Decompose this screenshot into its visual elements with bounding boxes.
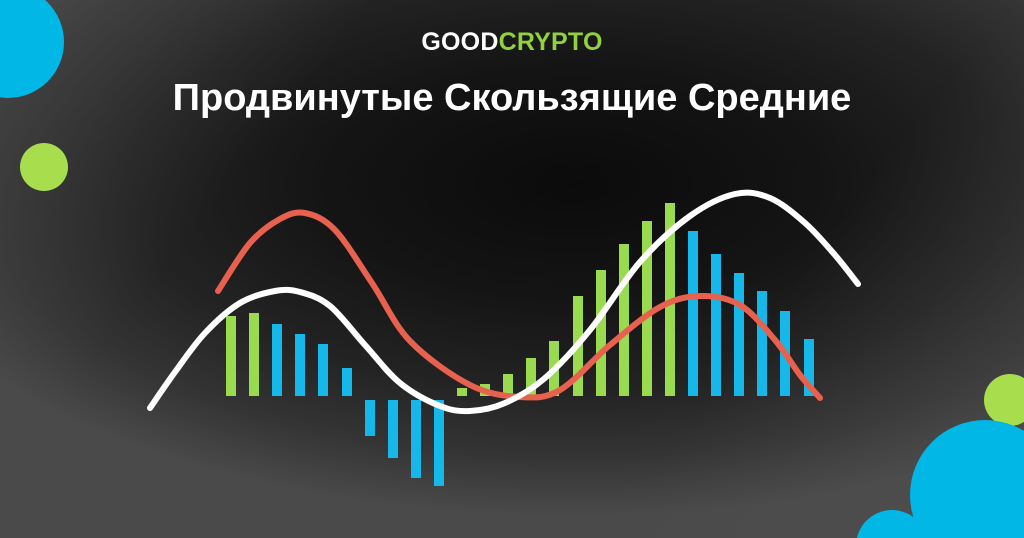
brand-logo: GOODCRYPTO bbox=[0, 30, 1024, 55]
promo-banner: GOODCRYPTO Продвинутые Скользящие Средни… bbox=[0, 0, 1024, 538]
brand-logo-good: GOOD bbox=[421, 28, 498, 56]
fast-moving-average-line bbox=[218, 212, 820, 398]
brand-logo-crypto: CRYPTO bbox=[499, 28, 603, 56]
slow-moving-average-line bbox=[150, 193, 858, 412]
page-title: Продвинутые Скользящие Средние bbox=[0, 78, 1024, 120]
